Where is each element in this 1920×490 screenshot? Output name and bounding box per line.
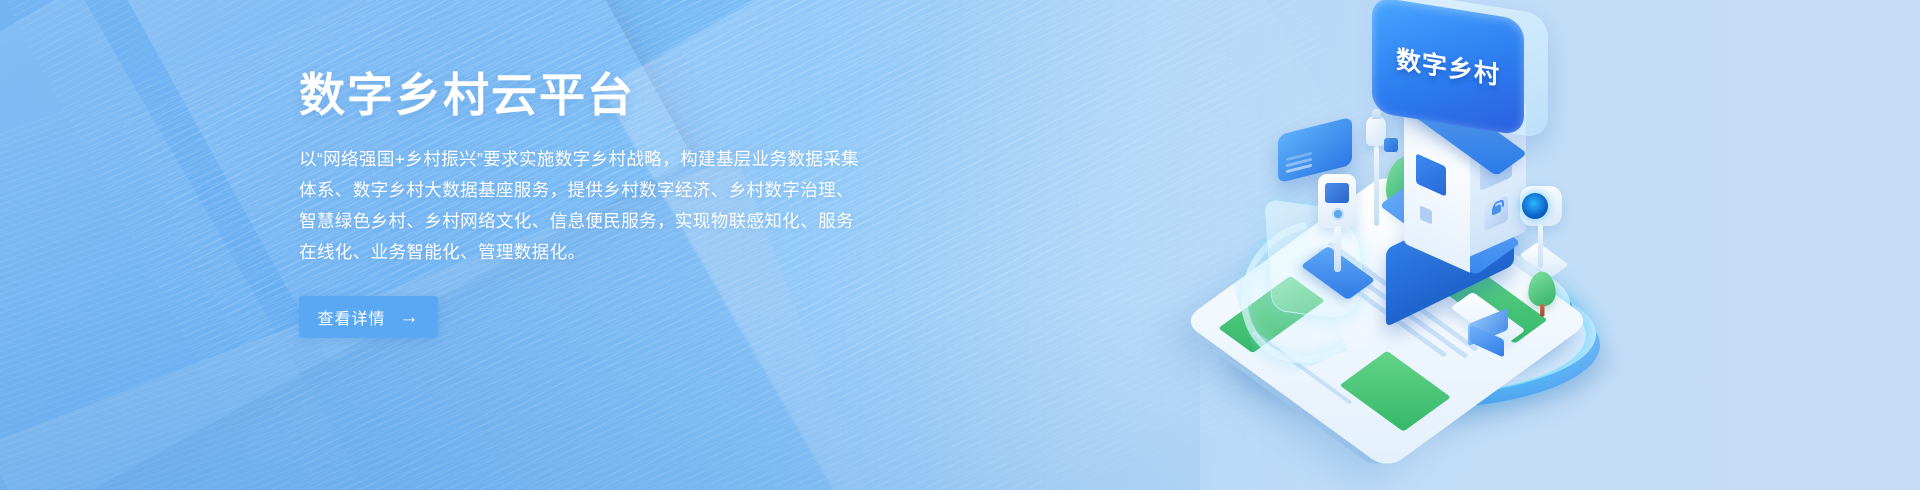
bus-stop-icon [1452, 304, 1542, 360]
background-decoration [0, 0, 1920, 490]
camera-lens [1522, 193, 1548, 219]
hero-description: 以“网络强国+乡村振兴”要求实施数字乡村战略，构建基层业务数据采集体系、数字乡村… [299, 144, 865, 268]
hero-banner: 数字乡村云平台 以“网络强国+乡村振兴”要求实施数字乡村战略，构建基层业务数据采… [0, 0, 1920, 490]
signboard: 数字乡村 [1372, 2, 1548, 130]
terminal-screen [1325, 183, 1349, 203]
terminal-pole [1334, 226, 1341, 272]
terminal-indicator [1334, 210, 1342, 218]
hero-copy: 数字乡村云平台 以“网络强国+乡村振兴”要求实施数字乡村战略，构建基层业务数据采… [299, 72, 899, 338]
lamp-badge [1384, 138, 1398, 152]
terminal-head [1318, 174, 1356, 228]
camera-body [1520, 186, 1562, 226]
lawn-patch [1339, 351, 1450, 432]
info-terminal-icon [1318, 174, 1364, 284]
security-camera-icon [1520, 186, 1580, 276]
page-title: 数字乡村云平台 [299, 72, 899, 118]
camera-pole [1538, 224, 1543, 268]
digital-village-illustration: 数字乡村 [1190, 8, 1630, 408]
tree-crown [1528, 272, 1555, 307]
lamp-pole [1374, 146, 1379, 226]
arrow-right-icon: → [400, 308, 420, 327]
signboard-label: 数字乡村 [1372, 0, 1524, 136]
view-details-label: 查看详情 [317, 305, 385, 329]
view-details-button[interactable]: 查看详情 → [299, 296, 438, 338]
